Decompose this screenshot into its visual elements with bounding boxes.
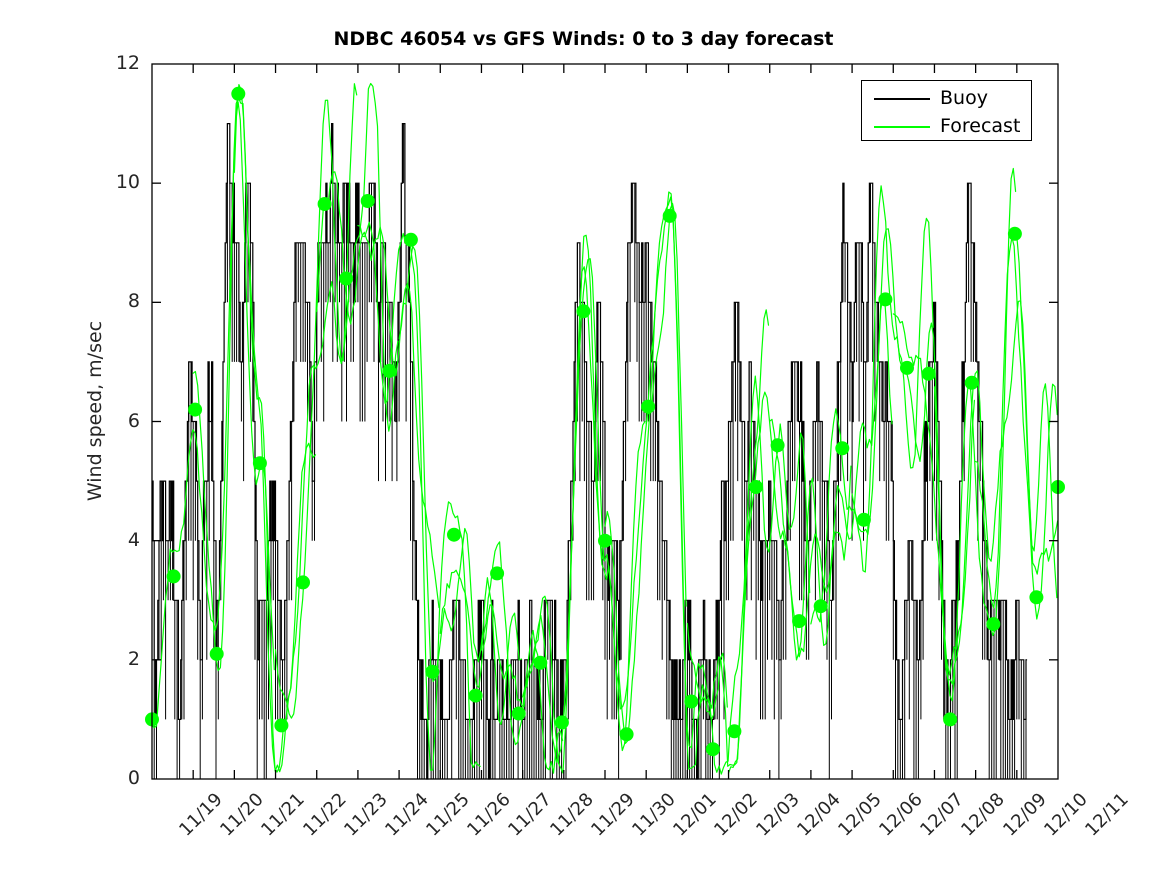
legend-label: Buoy (940, 87, 988, 109)
series-buoy (152, 124, 1027, 779)
figure-canvas: NDBC 46054 vs GFS Winds: 0 to 3 day fore… (0, 0, 1167, 875)
legend-line-swatch (874, 126, 930, 128)
y-tick-label: 0 (100, 767, 140, 789)
legend-entry: Forecast (862, 112, 1033, 142)
legend: BuoyForecast (861, 80, 1032, 141)
y-tick-label: 10 (100, 171, 140, 193)
y-tick-label: 8 (100, 290, 140, 312)
legend-line-swatch (874, 98, 930, 100)
legend-label: Forecast (940, 115, 1020, 137)
y-tick-label: 6 (100, 410, 140, 432)
y-tick-label: 2 (100, 648, 140, 670)
y-tick-label: 4 (100, 529, 140, 551)
legend-entry: Buoy (862, 84, 1033, 114)
y-tick-label: 12 (100, 52, 140, 74)
